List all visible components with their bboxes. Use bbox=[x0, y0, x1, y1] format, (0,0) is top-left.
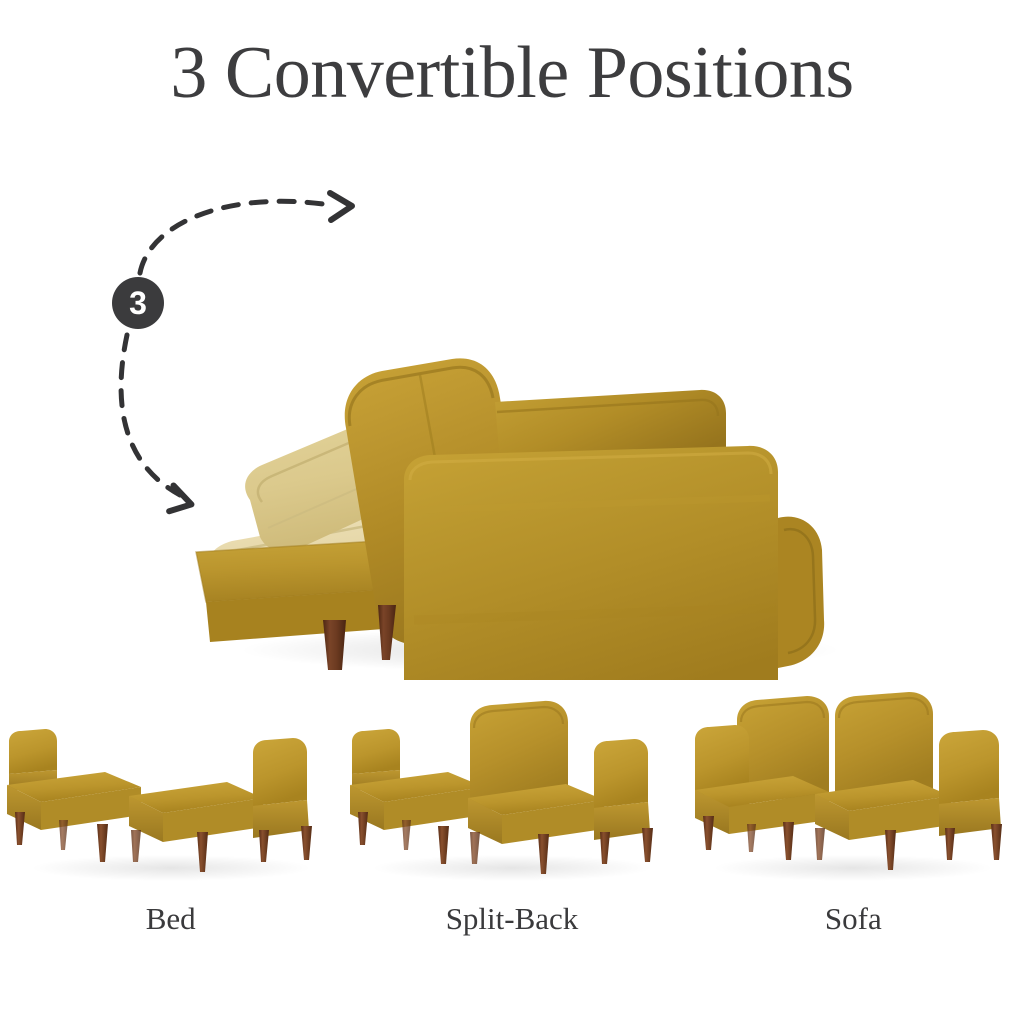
rotation-arc-upper bbox=[140, 201, 330, 273]
rotation-arc-lower bbox=[121, 335, 180, 495]
page-title: 3 Convertible Positions bbox=[0, 36, 1024, 110]
position-count-badge: 3 bbox=[112, 277, 164, 329]
variant-label-bed: Bed bbox=[146, 901, 196, 937]
arm-panel-front bbox=[404, 446, 778, 680]
arrowhead-top-icon bbox=[330, 193, 352, 220]
variant-bed[interactable]: Bed bbox=[0, 690, 341, 960]
infographic-page: 3 Convertible Positions bbox=[0, 0, 1024, 1024]
variant-label-split-back: Split-Back bbox=[446, 901, 579, 937]
variant-sofa[interactable]: Sofa bbox=[683, 690, 1024, 960]
hero-illustration bbox=[0, 150, 1024, 680]
arm-roll-right bbox=[778, 517, 824, 668]
variant-bed-figure bbox=[1, 690, 341, 895]
variant-gallery: Bed bbox=[0, 690, 1024, 960]
variant-label-sofa: Sofa bbox=[825, 901, 882, 937]
variant-split-back-figure bbox=[342, 690, 682, 895]
variant-sofa-figure bbox=[683, 690, 1023, 895]
variant-split-back[interactable]: Split-Back bbox=[341, 690, 682, 960]
hero-sofa-svg bbox=[0, 150, 1024, 680]
